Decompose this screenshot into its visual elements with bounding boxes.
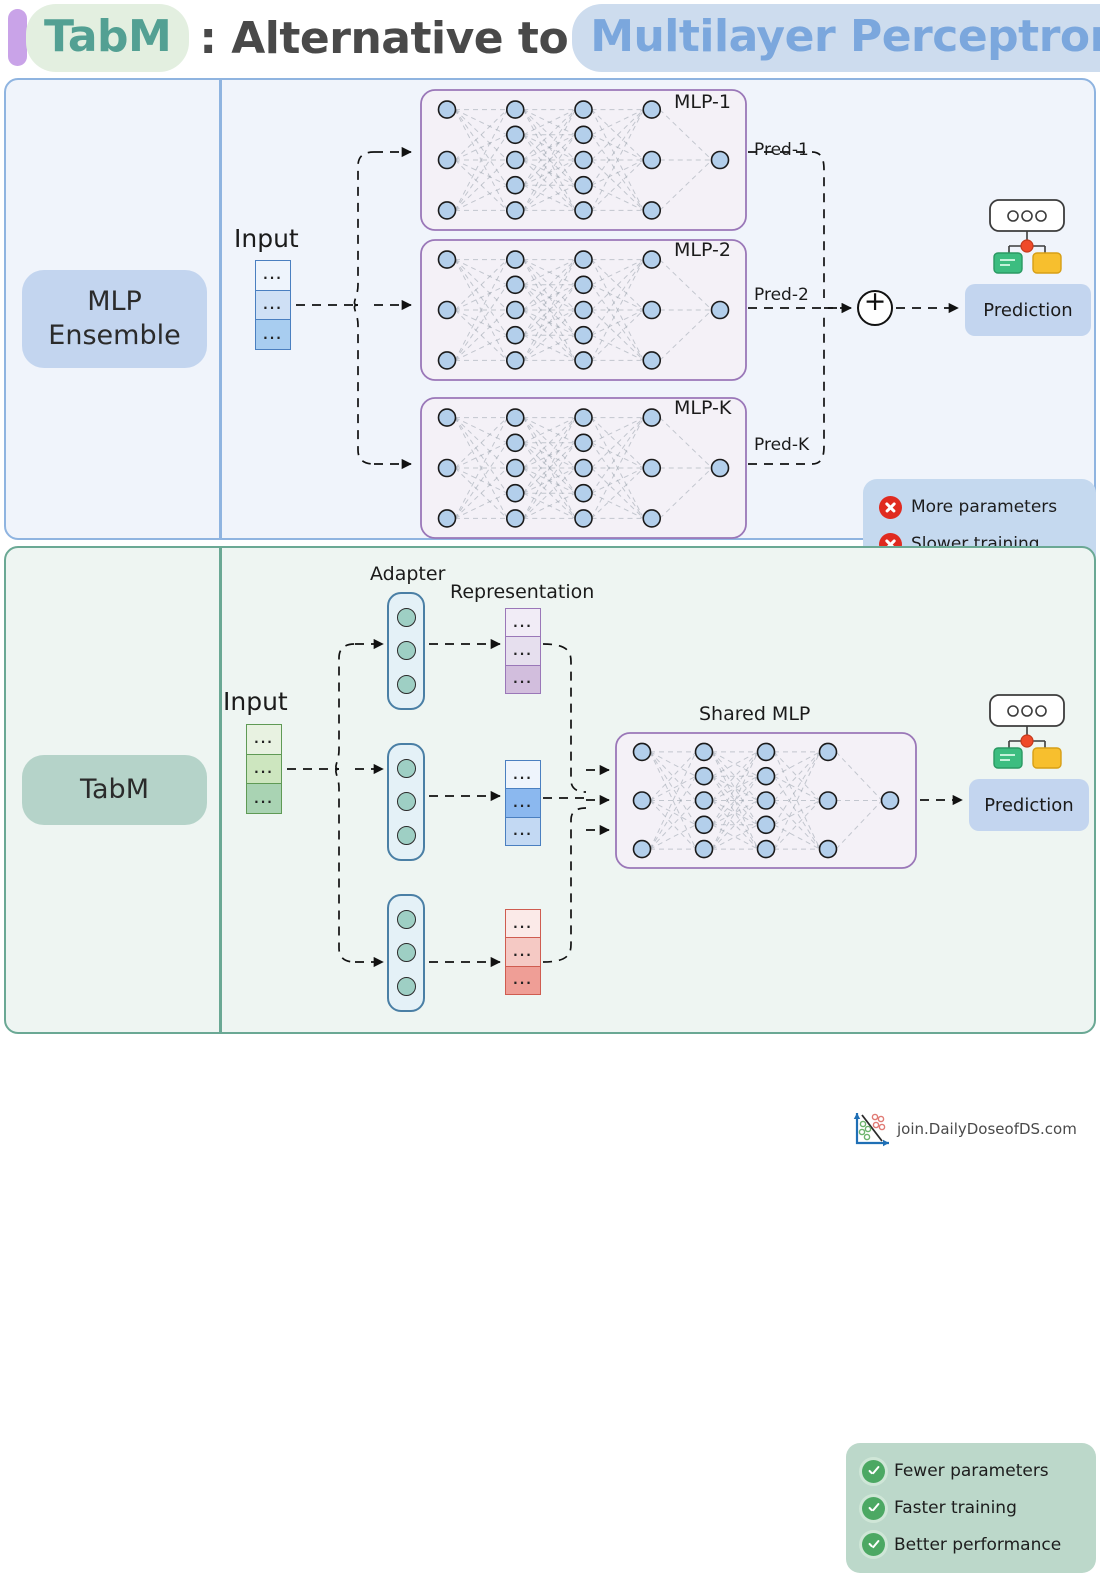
net-node (643, 302, 660, 319)
title-part-middle: : Alternative to (183, 13, 578, 64)
badge-row: Fewer parameters (862, 1453, 1080, 1490)
stack-cell: ... (506, 637, 540, 665)
yellow-card-icon (1033, 253, 1061, 273)
stack-cell: ... (506, 967, 540, 994)
adapter-node (397, 608, 416, 627)
flow-arrow (336, 644, 355, 769)
net-node (507, 302, 524, 319)
check-icon (862, 1533, 885, 1556)
net-node (575, 409, 592, 426)
net-node (758, 768, 775, 785)
green-card-icon (994, 253, 1022, 273)
flow-arrow (354, 152, 374, 305)
badge-label: Faster training (894, 1498, 1017, 1518)
net-node (575, 327, 592, 344)
net-node (575, 434, 592, 451)
red-node-icon (1021, 735, 1033, 747)
net-node (696, 743, 713, 760)
flow-arrow (354, 305, 374, 464)
flow-arrow (543, 808, 586, 962)
representation-label: Representation (450, 581, 594, 603)
net-node (643, 460, 660, 477)
pred-1-label: Pred-1 (754, 140, 809, 160)
net-node (643, 101, 660, 118)
net-node (439, 302, 456, 319)
net-node (820, 841, 837, 858)
stack-cell: ... (506, 761, 540, 789)
adapter-node (397, 826, 416, 845)
yellow-card-icon (1033, 748, 1061, 768)
pros-badge-list: Fewer parameters Faster training Better … (846, 1443, 1096, 1573)
net-node (712, 460, 729, 477)
net-node (439, 251, 456, 268)
bubble-dot-icon (1036, 706, 1046, 716)
net-node (575, 101, 592, 118)
badge-label: Fewer parameters (894, 1461, 1049, 1481)
net-node (575, 126, 592, 143)
net-node (575, 202, 592, 219)
net-node (758, 816, 775, 833)
page-title-bar: TabM : Alternative to Multilayer Percept… (0, 0, 1100, 78)
chat-cluster-icon-bottom (985, 693, 1075, 773)
net-node (439, 352, 456, 369)
net-node (712, 302, 729, 319)
bubble-dot-icon (1008, 211, 1018, 221)
net-node (507, 101, 524, 118)
net-node (643, 510, 660, 527)
stack-cell: ... (506, 910, 540, 938)
cross-icon (879, 496, 902, 519)
representation-stack: ......... (505, 608, 541, 694)
net-node (439, 202, 456, 219)
net-node (507, 327, 524, 344)
adapter-node (397, 675, 416, 694)
adapter-node (397, 977, 416, 996)
adapter-label: Adapter (370, 563, 445, 585)
top-prediction-label: Prediction (983, 300, 1072, 321)
stack-cell: ... (506, 938, 540, 966)
stack-cell: ... (506, 666, 540, 693)
watermark: join.DailyDoseofDS.com (851, 1110, 1077, 1148)
net-node (507, 276, 524, 293)
net-node (575, 276, 592, 293)
adapter-node (397, 759, 416, 778)
net-node (507, 352, 524, 369)
net-node (820, 792, 837, 809)
net-node (439, 460, 456, 477)
title-part-mlp: Multilayer Perceptron (578, 10, 1100, 66)
net-node (507, 126, 524, 143)
net-node (643, 352, 660, 369)
net-node (439, 510, 456, 527)
bubble-dot-icon (1036, 211, 1046, 221)
chat-cluster-icon-top (985, 198, 1075, 278)
net-node (882, 792, 899, 809)
adapter-block (387, 894, 425, 1012)
mlp-1-label: MLP-1 (674, 91, 731, 113)
net-node (643, 251, 660, 268)
bottom-prediction-box: Prediction (969, 779, 1089, 831)
net-node (575, 152, 592, 169)
net-node (758, 743, 775, 760)
net-node (439, 409, 456, 426)
net-node (696, 792, 713, 809)
badge-row: Better performance (862, 1526, 1080, 1563)
net-node (507, 434, 524, 451)
red-node-icon (1021, 240, 1033, 252)
mlp-k-label: MLP-K (674, 397, 731, 419)
net-node (507, 460, 524, 477)
net-node (634, 743, 651, 760)
bubble-dot-icon (1022, 211, 1032, 221)
net-node (507, 152, 524, 169)
net-node (439, 152, 456, 169)
mlp-2-label: MLP-2 (674, 239, 731, 261)
stack-cell: ... (506, 789, 540, 817)
net-node (507, 409, 524, 426)
badge-row: Faster training (862, 1490, 1080, 1527)
flow-arrow (543, 644, 586, 792)
tabm-panel: TabM join.DailyDoseofDS.com Input ......… (4, 546, 1096, 1034)
net-node (575, 460, 592, 477)
net-node (507, 510, 524, 527)
watermark-text: join.DailyDoseofDS.com (897, 1120, 1077, 1138)
net-node (696, 841, 713, 858)
scatter-logo-icon (851, 1110, 893, 1148)
badge-label: More parameters (911, 497, 1057, 517)
adapter-block (387, 592, 425, 710)
net-node (507, 177, 524, 194)
adapter-node (397, 641, 416, 660)
net-node (758, 792, 775, 809)
title-part-tabm: TabM (32, 10, 183, 66)
title-accent-bar (8, 9, 27, 66)
page-title: TabM : Alternative to Multilayer Percept… (32, 8, 1100, 68)
pred-k-label: Pred-K (754, 435, 809, 455)
sum-symbol: + (861, 286, 889, 317)
net-node (758, 841, 775, 858)
net-node (643, 409, 660, 426)
net-node (712, 152, 729, 169)
net-node (643, 202, 660, 219)
net-node (696, 768, 713, 785)
net-node (696, 816, 713, 833)
bottom-prediction-label: Prediction (984, 795, 1073, 816)
representation-stack: ......... (505, 909, 541, 995)
mlp-ensemble-panel: MLP Ensemble Input ......... MLP-1 MLP-2… (4, 78, 1096, 540)
representation-stack: ......... (505, 760, 541, 846)
net-node (634, 792, 651, 809)
net-node (507, 251, 524, 268)
net-node (575, 352, 592, 369)
net-node (507, 485, 524, 502)
net-node (575, 251, 592, 268)
badge-row: More parameters (879, 489, 1080, 526)
net-node (820, 743, 837, 760)
net-node (439, 101, 456, 118)
flow-arrow (336, 769, 355, 962)
adapter-node (397, 792, 416, 811)
top-diagram-canvas (6, 80, 1098, 538)
adapter-node (397, 910, 416, 929)
adapter-block (387, 743, 425, 861)
shared-mlp-label: Shared MLP (699, 703, 810, 725)
net-node (575, 177, 592, 194)
net-node (634, 841, 651, 858)
badge-label: Better performance (894, 1535, 1061, 1555)
adapter-node (397, 943, 416, 962)
pred-2-label: Pred-2 (754, 285, 809, 305)
bubble-dot-icon (1008, 706, 1018, 716)
net-node (575, 485, 592, 502)
stack-cell: ... (506, 818, 540, 845)
check-icon (862, 1497, 885, 1520)
green-card-icon (994, 748, 1022, 768)
check-icon (862, 1460, 885, 1483)
net-node (643, 152, 660, 169)
bottom-diagram-canvas (6, 548, 1098, 1032)
flow-arrow (748, 152, 824, 298)
top-prediction-box: Prediction (965, 284, 1091, 336)
net-node (507, 202, 524, 219)
net-node (575, 302, 592, 319)
net-node (575, 510, 592, 527)
stack-cell: ... (506, 609, 540, 637)
bubble-dot-icon (1022, 706, 1032, 716)
